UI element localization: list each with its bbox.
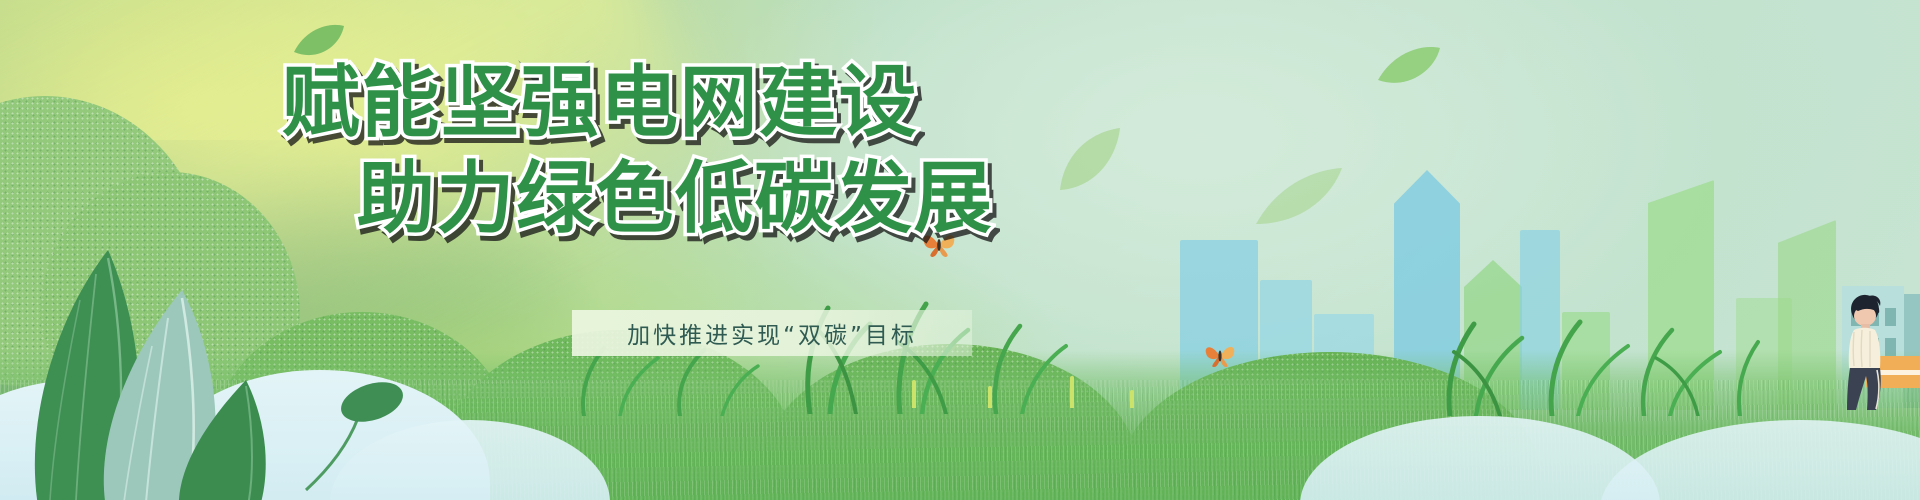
grass-cluster-right <box>1430 296 1760 416</box>
butterfly-lower-right <box>1204 340 1236 368</box>
headline-line-2: 助力绿色低碳发展 <box>0 160 1200 238</box>
leaf-stem-small <box>296 372 406 492</box>
headline-block: 赋能坚强电网建设 助力绿色低碳发展 <box>0 64 1200 238</box>
headline-line-1: 赋能坚强电网建设 <box>0 64 1200 142</box>
leaf-dark-left-2 <box>150 378 280 500</box>
eco-power-grid-banner: 赋能坚强电网建设 助力绿色低碳发展 加快推进实现“双碳”目标 <box>0 0 1920 500</box>
sprout-accents <box>900 348 1160 408</box>
leaf-floating-top-right <box>1376 44 1442 90</box>
leaf-floating-top-left <box>290 22 346 62</box>
leaf-floating-skyline <box>1254 168 1344 228</box>
subtitle-text: 加快推进实现“双碳”目标 <box>627 316 917 350</box>
walking-person <box>1836 292 1892 410</box>
subtitle-band: 加快推进实现“双碳”目标 <box>572 310 972 356</box>
